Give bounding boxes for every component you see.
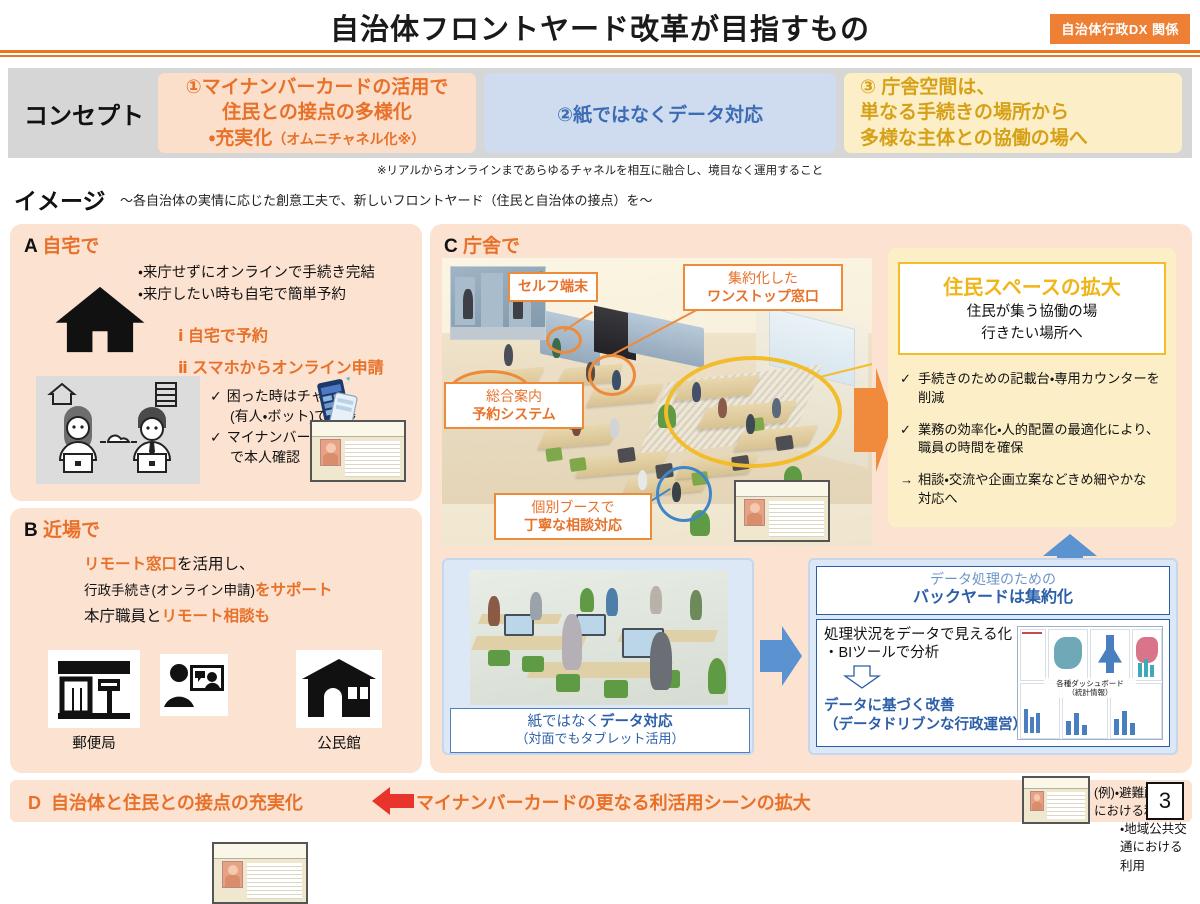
- office-person: [638, 470, 647, 490]
- divider-thick-line: [0, 50, 1200, 53]
- divider-thin-line: [0, 55, 1200, 57]
- resident-space-sub-2: 行きたい場所へ: [904, 325, 1160, 344]
- post-office-icon: [54, 655, 134, 723]
- paperless-photo-caption: 紙ではなくデータ対応 （対面でもタブレット活用）: [450, 708, 750, 753]
- status-badge: 自治体行政DX 関係: [1050, 14, 1190, 44]
- backyard-body-line-1: 処理状況をデータで見える化: [824, 626, 1024, 645]
- backyard-body-line-2: ・BIツールで分析: [824, 644, 1024, 663]
- photo-plant: [708, 658, 726, 694]
- resident-space-list: ✓ 手続きのための記載台・専用カウンターを 削減 ✓ 業務の効率化・人的配置の最…: [900, 370, 1168, 508]
- card-header-area: [214, 844, 306, 859]
- community-center-icon: [300, 655, 378, 723]
- my-number-card-image: [734, 480, 830, 542]
- check-icon: ✓: [210, 429, 222, 445]
- panel-b-line-3-normal: 本庁職員と: [84, 608, 162, 625]
- callout-booth: 個別ブースで 丁寧な相談対応: [494, 493, 652, 540]
- dashboard-screenshot: 各種ダッシュボード （統計情報）: [1017, 626, 1163, 740]
- office-person: [610, 418, 619, 438]
- photo-person: [488, 596, 500, 626]
- video-call-person-icon: [162, 657, 226, 713]
- photo-person: [530, 592, 542, 620]
- community-center-caption: 公民館: [296, 732, 382, 753]
- concept-1-line-2: 住民との接点の多様化: [168, 100, 466, 125]
- resident-space-item-2: ✓ 業務の効率化・人的配置の最適化により、 職員の時間を確保: [900, 421, 1168, 458]
- panel-d-bottom-bar: D 自治体と住民との接点の充実化 マイナンバーカードの更なる利活用シーンの拡大 …: [10, 780, 1192, 822]
- dashboard-caption-line-2: （統計情報）: [1044, 688, 1136, 697]
- dashboard-bar: [1022, 632, 1042, 634]
- panel-c-letter: C: [444, 236, 458, 257]
- online-consultation-illustration: [36, 376, 200, 484]
- backyard-header-line-1: データ処理のための: [819, 571, 1167, 588]
- dashboard-bar: [1074, 713, 1079, 735]
- panel-b-title: 近場で: [43, 520, 100, 541]
- resident-space-item-1: ✓ 手続きのための記載台・専用カウンターを 削減: [900, 370, 1168, 407]
- my-number-card-image: [212, 842, 308, 904]
- panel-b-line-3: 本庁職員とリモート相談も: [84, 604, 333, 630]
- panel-a-letter: A: [24, 236, 37, 257]
- panel-b-icon-group: 郵便局: [40, 650, 400, 760]
- booth-highlight-circle: [656, 466, 712, 522]
- card-portrait: [320, 439, 341, 466]
- red-left-arrow-icon: [372, 786, 414, 816]
- panel-a-bullets: ・来庁せずにオンラインで手続き完結 ・来庁したい時も自宅で簡単予約: [138, 262, 375, 307]
- resident-space-item-1-text: 手続きのための記載台・専用カウンターを 削減: [918, 370, 1160, 407]
- paperless-caption-line-1: 紙ではなくデータ対応: [453, 713, 747, 731]
- onestop-highlight-circle: [664, 356, 842, 468]
- panel-b-line-1-highlight: リモート窓口: [84, 556, 177, 573]
- callout-self-terminal: セルフ端末: [508, 272, 598, 302]
- panel-d-example-line-2: ・地域公共交通における利用: [1094, 820, 1192, 874]
- image-section-header: イメージ ～各自治体の実情に応じた創意工夫で、新しいフロントヤード（住民と自治体…: [14, 182, 652, 216]
- concept-3-line-2: 単なる手続きの場所から: [854, 100, 1172, 125]
- my-number-card-image: [310, 420, 406, 482]
- header-divider: [0, 50, 1200, 58]
- callout-reception: 総合案内 予約システム: [444, 382, 584, 429]
- dashboard-map-chart: [1054, 637, 1082, 669]
- two-people-cloud-icon: [36, 376, 200, 484]
- photo-person: [650, 586, 662, 614]
- panel-c-office: C 庁舎で: [430, 224, 1192, 773]
- callout-reception-line-2: 予約システム: [454, 406, 574, 424]
- slide-root: 自治体フロントヤード改革が目指すもの 自治体行政DX 関係 コンセプト ①マイナ…: [0, 0, 1200, 827]
- callout-booth-line-2: 丁寧な相談対応: [504, 517, 642, 535]
- resident-space-title: 住民スペースの拡大: [904, 271, 1160, 300]
- consultation-highlight-circle: [588, 354, 636, 396]
- resident-space-item-1-line-1: 手続きのための記載台・専用カウンターを: [918, 371, 1160, 386]
- panel-a-step-i: ⅰ 自宅で予約: [178, 322, 268, 346]
- resident-space-item-3-line-1: 相談・交流や企画立案などきめ細やかな: [918, 472, 1146, 487]
- panel-b-line-1-rest: を活用し、: [177, 556, 255, 573]
- concept-1-line-1: ①マイナンバーカードの活用で: [168, 75, 466, 100]
- paperless-caption-normal: 紙ではなく: [528, 714, 601, 730]
- resident-space-item-2-line-2: 職員の時間を確保: [918, 440, 1024, 455]
- concept-3-line-3: 多様な主体との協働の場へ: [854, 126, 1172, 151]
- card-portrait: [744, 499, 765, 526]
- paperless-photo-card: 紙ではなくデータ対応 （対面でもタブレット活用）: [442, 558, 754, 755]
- card-portrait: [1030, 791, 1045, 811]
- card-portrait: [222, 861, 243, 888]
- concept-box-1: ①マイナンバーカードの活用で 住民との接点の多様化 ・充実化（オムニチャネル化※…: [158, 73, 476, 153]
- dashboard-bar: [1122, 711, 1127, 735]
- panel-a-bullet-2: ・来庁したい時も自宅で簡単予約: [138, 284, 375, 306]
- dashboard-caption: 各種ダッシュボード （統計情報）: [1044, 678, 1136, 698]
- card-text-lines: [247, 863, 302, 899]
- my-number-card-image: [1022, 776, 1090, 824]
- concept-row: コンセプト ①マイナンバーカードの活用で 住民との接点の多様化 ・充実化（オムニ…: [8, 68, 1192, 158]
- paperless-caption-line-2: （対面でもタブレット活用）: [453, 731, 747, 747]
- card-text-lines: [769, 501, 824, 537]
- paperless-office-photo: [470, 570, 728, 705]
- photo-person: [650, 632, 672, 690]
- panel-b-nearby: B 近場で リモート窓口を活用し、 行政手続き(オンライン申請)をサポート 本庁…: [10, 508, 422, 773]
- office-chair: [545, 447, 563, 462]
- photo-chair: [604, 680, 628, 698]
- panel-a-heading: A 自宅で: [10, 224, 422, 258]
- post-office-caption: 郵便局: [48, 732, 140, 753]
- backyard-panel-header: データ処理のための バックヤードは集約化: [816, 566, 1170, 615]
- office-chair: [569, 457, 587, 472]
- concept-box-2: ②紙ではなくデータ対応: [484, 73, 836, 153]
- card-text-lines: [345, 441, 400, 477]
- resident-space-item-3-line-2: 対応へ: [918, 491, 958, 506]
- arrow-right-icon: →: [900, 471, 918, 508]
- photo-person: [690, 590, 702, 620]
- photo-person: [606, 588, 618, 616]
- panel-d-title: 自治体と住民との接点の充実化: [51, 793, 303, 813]
- panel-b-line-2-highlight: をサポート: [255, 582, 333, 599]
- concept-3-line-1: ③ 庁舎空間は、: [854, 75, 1172, 100]
- concept-1-line-3-note: （オムニチャネル化※）: [272, 131, 425, 147]
- callout-reception-line-1: 総合案内: [454, 388, 574, 406]
- image-section-subtitle: ～各自治体の実情に応じた創意工夫で、新しいフロントヤード（住民と自治体の接点）を…: [120, 190, 652, 209]
- panel-d-headline: マイナンバーカードの更なる利活用シーンの拡大: [416, 789, 811, 815]
- check-icon: ✓: [210, 388, 222, 404]
- panel-b-letter: B: [24, 520, 38, 541]
- resident-space-item-2-text: 業務の効率化・人的配置の最適化により、 職員の時間を確保: [918, 421, 1159, 458]
- backyard-header-line-2: バックヤードは集約化: [819, 588, 1167, 608]
- backyard-body-text: 処理状況をデータで見える化 ・BIツールで分析 データに基づく改善 （データドリ…: [824, 626, 1024, 735]
- panel-b-text: リモート窓口を活用し、 行政手続き(オンライン申請)をサポート 本庁職員とリモー…: [84, 552, 333, 630]
- panel-a-step-ii: ⅱ スマホからオンライン申請: [178, 354, 384, 378]
- panel-a-home: A 自宅で ・来庁せずにオンラインで手続き完結 ・来庁したい時も自宅で簡単予約 …: [10, 224, 422, 501]
- resident-space-item-3-text: 相談・交流や企画立案などきめ細やかな 対応へ: [918, 471, 1146, 508]
- callout-onestop: 集約化した ワンストップ窓口: [683, 264, 843, 311]
- check-icon: ✓: [900, 421, 918, 458]
- photo-floor: [451, 327, 546, 340]
- resident-space-panel: 住民スペースの拡大 住民が集う協働の場 行きたい場所へ ✓ 手続きのための記載台…: [888, 248, 1176, 527]
- dashboard-cell: [1020, 629, 1046, 681]
- slide-header: 自治体フロントヤード改革が目指すもの 自治体行政DX 関係: [0, 0, 1200, 58]
- dashboard-bar: [1024, 709, 1028, 733]
- photo-person: [562, 614, 582, 670]
- concept-row-label: コンセプト: [14, 96, 154, 131]
- card-header-area: [312, 422, 404, 437]
- panel-b-heading: B 近場で: [10, 508, 422, 542]
- office-person: [504, 344, 513, 366]
- panel-c-title: 庁舎で: [463, 236, 520, 257]
- photo-person: [463, 289, 473, 319]
- photo-monitor: [504, 614, 534, 636]
- resident-space-sub-1: 住民が集う協働の場: [904, 303, 1160, 322]
- resident-space-item-1-line-2: 削減: [918, 390, 944, 405]
- panel-b-line-1: リモート窓口を活用し、: [84, 552, 333, 578]
- panel-d-heading: D 自治体と住民との接点の充実化: [28, 789, 303, 815]
- photo-plant: [580, 588, 594, 612]
- panel-b-line-3-highlight: リモート相談も: [162, 608, 271, 625]
- office-chair: [617, 447, 636, 463]
- panel-b-line-2-normal: 行政手続き(オンライン申請): [84, 583, 255, 598]
- panel-a-bullet-1: ・来庁せずにオンラインで手続き完結: [138, 262, 375, 284]
- card-header-area: [736, 482, 828, 497]
- concept-box-3: ③ 庁舎空間は、 単なる手続きの場所から 多様な主体との協働の場へ: [844, 73, 1182, 153]
- dashboard-bar: [1130, 723, 1135, 735]
- concept-2-line-1: ②紙ではなくデータ対応: [494, 100, 826, 127]
- down-arrow-outline-icon: [842, 665, 882, 689]
- dashboard-bar: [1114, 719, 1119, 735]
- post-office-icon-box: [48, 650, 140, 728]
- concept-1-line-3-main: ・充実化: [209, 128, 272, 149]
- panel-d-letter: D: [28, 793, 41, 813]
- dashboard-bar: [1150, 665, 1154, 677]
- backyard-panel-body: 処理状況をデータで見える化 ・BIツールで分析 データに基づく改善 （データドリ…: [816, 619, 1170, 747]
- backyard-data-panel: データ処理のための バックヤードは集約化 処理状況をデータで見える化 ・BIツー…: [808, 558, 1178, 755]
- remote-consultation-icon-box: [160, 654, 228, 716]
- photo-chair: [522, 656, 544, 672]
- photo-chair: [556, 674, 580, 692]
- blue-right-arrow-icon: [760, 624, 802, 688]
- backyard-result-line-2: （データドリブンな行政運営）: [824, 716, 1024, 735]
- backyard-result-line-1: データに基づく改善: [824, 697, 1024, 716]
- dashboard-bar: [1082, 725, 1087, 735]
- paperless-caption-bold: データ対応: [600, 714, 673, 730]
- photo-chair: [488, 650, 510, 666]
- callout-booth-line-1: 個別ブースで: [504, 499, 642, 517]
- callout-onestop-line-1: 集約化した: [693, 270, 833, 288]
- image-section-label: イメージ: [14, 182, 106, 216]
- resident-space-item-3: → 相談・交流や企画立案などきめ細やかな 対応へ: [900, 471, 1168, 508]
- panel-b-line-2: 行政手続き(オンライン申請)をサポート: [84, 578, 333, 604]
- dashboard-bar: [1036, 713, 1040, 733]
- check-icon: ✓: [900, 370, 918, 407]
- dashboard-bar: [1030, 717, 1034, 733]
- resident-space-title-box: 住民スペースの拡大 住民が集う協働の場 行きたい場所へ: [898, 262, 1166, 355]
- dashboard-bar: [1066, 721, 1071, 735]
- page-title: 自治体フロントヤード改革が目指すもの: [0, 6, 1200, 48]
- dashboard-bar: [1144, 659, 1148, 677]
- house-icon: [52, 284, 148, 354]
- card-header-area: [1024, 778, 1088, 789]
- page-number: 3: [1146, 782, 1184, 820]
- concept-1-line-3: ・充実化（オムニチャネル化※）: [168, 126, 466, 151]
- dashboard-caption-line-1: 各種ダッシュボード: [1044, 679, 1136, 688]
- community-center-icon-box: [296, 650, 382, 728]
- resident-space-item-2-line-1: 業務の効率化・人的配置の最適化により、: [918, 422, 1159, 437]
- concept-footnote: ※リアルからオンラインまであらゆるチャネルを相互に融合し、境目なく運用すること: [0, 162, 1200, 178]
- dashboard-bar: [1138, 663, 1142, 677]
- card-text-lines: [1047, 792, 1085, 819]
- photo-booth-panel: [481, 273, 503, 327]
- panel-a-title: 自宅で: [42, 236, 99, 257]
- callout-onestop-line-2: ワンストップ窓口: [693, 288, 833, 306]
